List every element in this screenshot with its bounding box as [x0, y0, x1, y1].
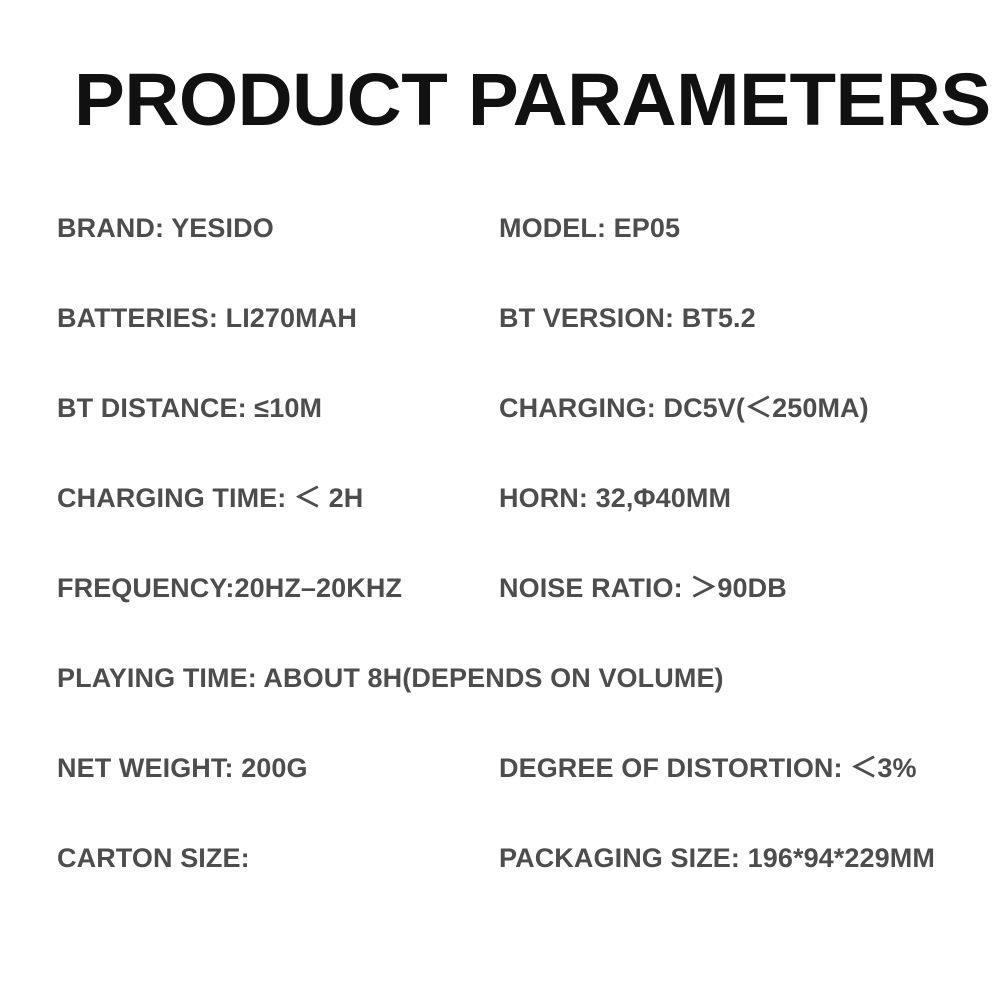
spec-row: BATTERIES: LI270MAH BT VERSION: BT5.2 — [0, 298, 1000, 388]
spec-row: NET WEIGHT: 200G DEGREE OF DISTORTION: ＜… — [0, 748, 1000, 838]
spec-horn: HORN: 32,Φ40MM — [499, 478, 731, 518]
spec-charging: CHARGING: DC5V(＜250MA) — [499, 388, 869, 428]
spec-row: CHARGING TIME: ＜ 2H HORN: 32,Φ40MM — [0, 478, 1000, 568]
spec-carton-size: CARTON SIZE: — [57, 838, 250, 878]
spec-model: MODEL: EP05 — [499, 208, 680, 248]
spec-frequency: FREQUENCY:20HZ–20KHZ — [57, 568, 402, 608]
spec-degree-of-distortion: DEGREE OF DISTORTION: ＜3% — [499, 748, 917, 788]
spec-playing-time: PLAYING TIME: ABOUT 8H(DEPENDS ON VOLUME… — [57, 658, 724, 698]
spec-row: PLAYING TIME: ABOUT 8H(DEPENDS ON VOLUME… — [0, 658, 1000, 748]
spec-row: BT DISTANCE: ≤10M CHARGING: DC5V(＜250MA) — [0, 388, 1000, 478]
spec-bt-distance: BT DISTANCE: ≤10M — [57, 388, 322, 428]
spec-bt-version: BT VERSION: BT5.2 — [499, 298, 756, 338]
spec-row: BRAND: YESIDO MODEL: EP05 — [0, 208, 1000, 298]
spec-net-weight: NET WEIGHT: 200G — [57, 748, 308, 788]
spec-charging-time: CHARGING TIME: ＜ 2H — [57, 478, 363, 518]
page-title: PRODUCT PARAMETERS — [74, 60, 1000, 140]
spec-packaging-size: PACKAGING SIZE: 196*94*229MM — [499, 838, 935, 878]
spec-brand: BRAND: YESIDO — [57, 208, 274, 248]
spec-row: CARTON SIZE: PACKAGING SIZE: 196*94*229M… — [0, 838, 1000, 928]
spec-batteries: BATTERIES: LI270MAH — [57, 298, 357, 338]
product-parameters-page: PRODUCT PARAMETERS BRAND: YESIDO MODEL: … — [0, 0, 1000, 1000]
spec-row: FREQUENCY:20HZ–20KHZ NOISE RATIO: ＞90DB — [0, 568, 1000, 658]
spec-noise-ratio: NOISE RATIO: ＞90DB — [499, 568, 787, 608]
specifications-list: BRAND: YESIDO MODEL: EP05 BATTERIES: LI2… — [0, 208, 1000, 928]
